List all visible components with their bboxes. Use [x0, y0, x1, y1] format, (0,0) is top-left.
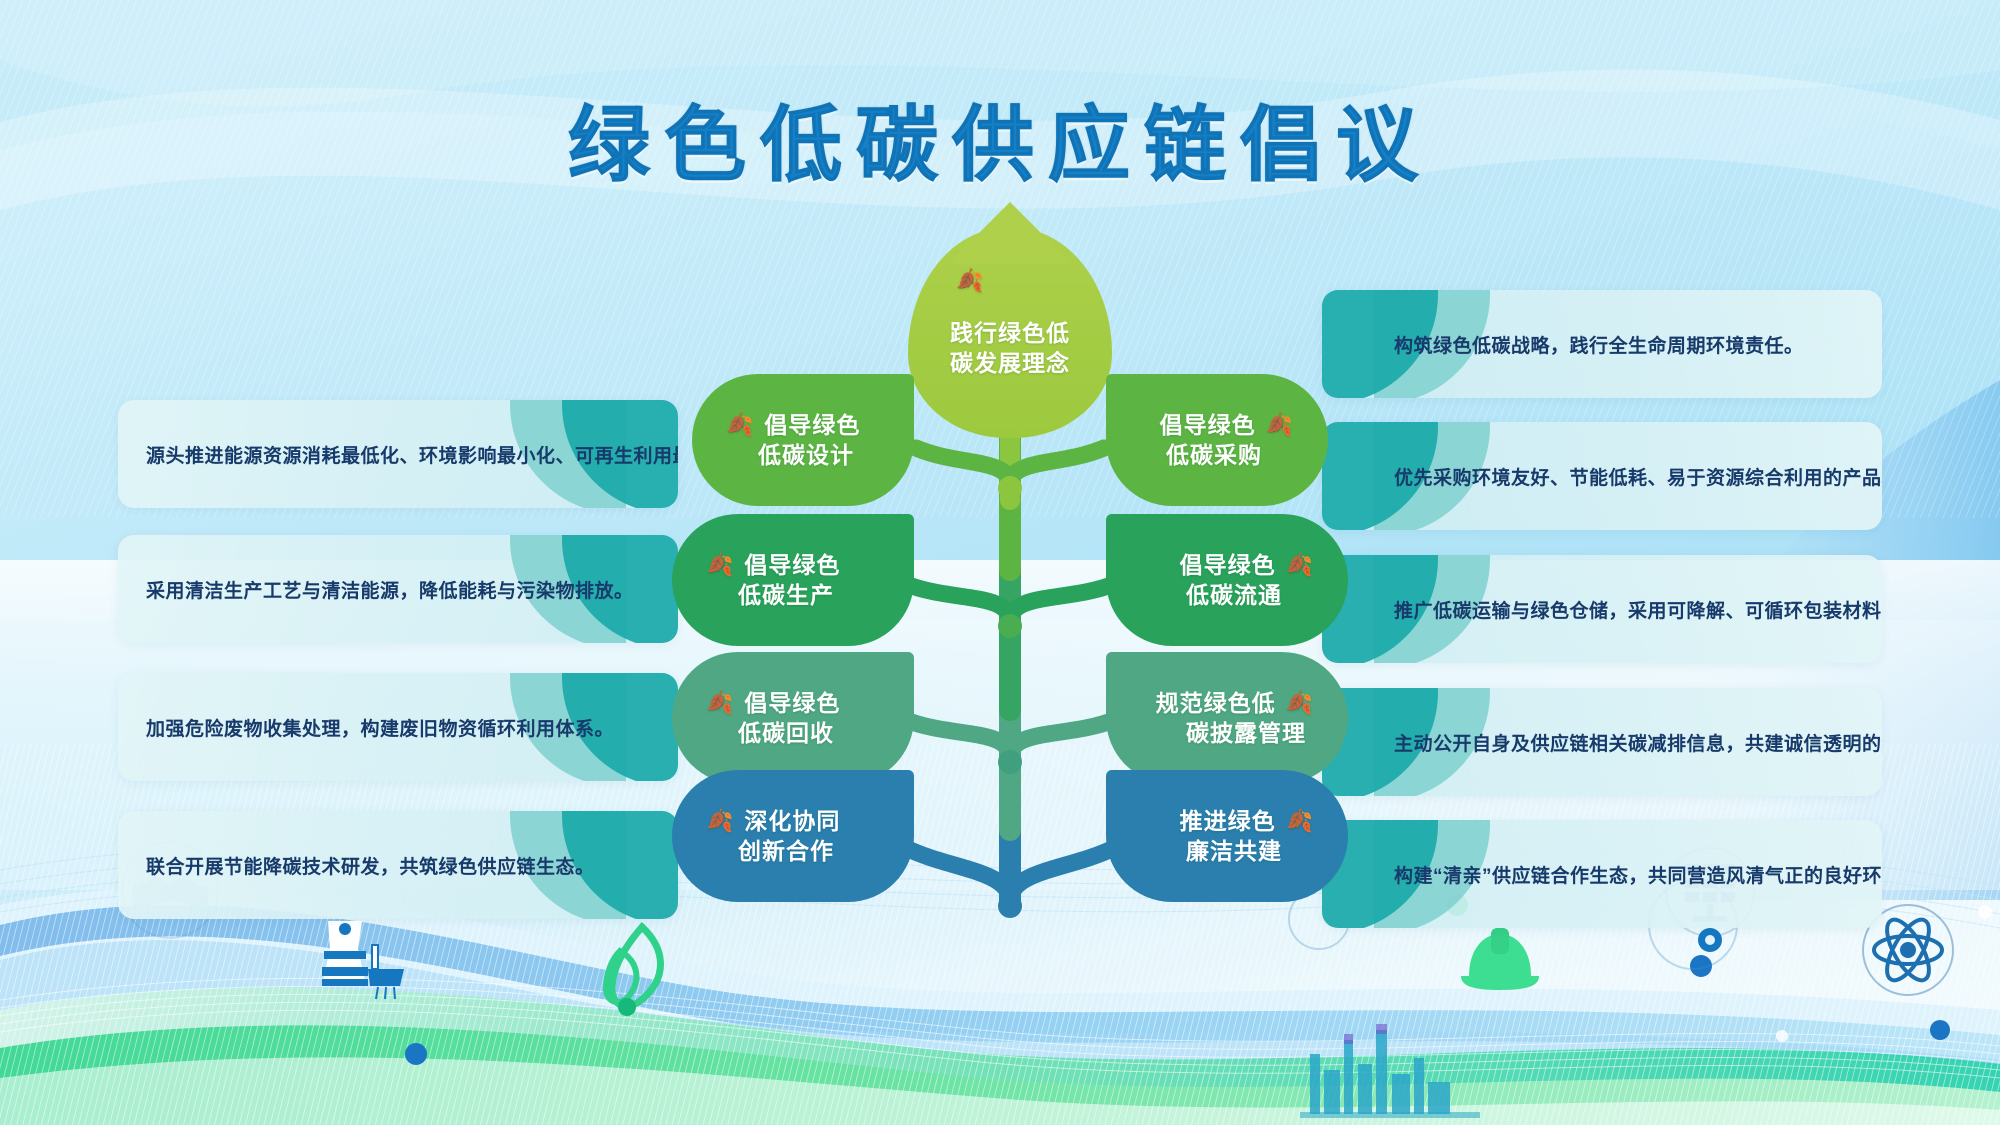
- tree-diagram: 🍂 践行绿色低 碳发展理念 🍂倡导绿色 低碳设计 倡导绿色🍂 低碳采购 🍂倡导绿…: [720, 270, 1300, 920]
- leaf-icon: 🍂: [1286, 554, 1314, 576]
- tree-node-right-4[interactable]: 推进绿色🍂 廉洁共建: [1106, 770, 1348, 902]
- right-panel-3-text: 推广低碳运输与绿色仓储，采用可降解、可循环包装材料。: [1322, 596, 1882, 623]
- tree-node-left-1[interactable]: 🍂倡导绿色 低碳设计: [692, 374, 914, 506]
- left-panel-1: 源头推进能源资源消耗最低化、环境影响最小化、可再生利用最大化。: [118, 400, 678, 508]
- left-panel-4-text: 联合开展节能降碳技术研发，共筑绿色供应链生态。: [118, 852, 595, 879]
- left-panel-2: 采用清洁生产工艺与清洁能源，降低能耗与污染物排放。: [118, 535, 678, 643]
- node-left-4-line1: 深化协同: [744, 806, 840, 836]
- right-panel-1: 构筑绿色低碳战略，践行全生命周期环境责任。: [1322, 290, 1882, 398]
- node-left-3-line2: 低碳回收: [738, 718, 834, 748]
- left-panel-1-text: 源头推进能源资源消耗最低化、环境影响最小化、可再生利用最大化。: [118, 441, 678, 468]
- tree-node-right-1[interactable]: 倡导绿色🍂 低碳采购: [1106, 374, 1328, 506]
- leaf-icon: 🍂: [1286, 692, 1314, 714]
- node-right-3-line2: 碳披露管理: [1186, 718, 1306, 748]
- leaf-icon: 🍂: [706, 810, 734, 832]
- leaf-icon: 🍂: [706, 554, 734, 576]
- tree-node-right-2[interactable]: 倡导绿色🍂 低碳流通: [1106, 514, 1348, 646]
- leaf-icon: 🍂: [726, 414, 754, 436]
- tree-node-left-3[interactable]: 🍂倡导绿色 低碳回收: [672, 652, 914, 784]
- node-right-1-line2: 低碳采购: [1166, 440, 1262, 470]
- crown-line-2: 碳发展理念: [928, 348, 1092, 378]
- crown-tip-shape: [948, 202, 1072, 264]
- crown-line-1: 践行绿色低: [928, 318, 1092, 348]
- poster-title-wrap: 绿色低碳供应链倡议: [0, 78, 2000, 197]
- node-left-2-line1: 倡导绿色: [744, 550, 840, 580]
- node-right-4-line2: 廉洁共建: [1186, 836, 1282, 866]
- left-panel-2-text: 采用清洁生产工艺与清洁能源，降低能耗与污染物排放。: [118, 576, 634, 603]
- leaf-icon: 🍂: [706, 692, 734, 714]
- node-right-2-line1: 倡导绿色: [1180, 550, 1276, 580]
- node-left-3-line1: 倡导绿色: [744, 688, 840, 718]
- right-panel-1-text: 构筑绿色低碳战略，践行全生命周期环境责任。: [1322, 331, 1804, 358]
- right-panel-5-text: 构建“清亲”供应链合作生态，共同营造风清气正的良好环境。: [1322, 861, 1882, 888]
- poster-canvas: 绿色低碳供应链倡议 源头推进能源资源消耗最低化、环境影响最小化、可再生利用最大化…: [0, 0, 2000, 1125]
- tree-node-left-4[interactable]: 🍂深化协同 创新合作: [672, 770, 914, 902]
- leaf-icon: 🍂: [956, 270, 984, 292]
- right-panel-5: 构建“清亲”供应链合作生态，共同营造风清气正的良好环境。: [1322, 820, 1882, 928]
- right-panel-3: 推广低碳运输与绿色仓储，采用可降解、可循环包装材料。: [1322, 555, 1882, 663]
- node-right-2-line2: 低碳流通: [1186, 580, 1282, 610]
- node-left-2-line2: 低碳生产: [738, 580, 834, 610]
- left-panel-3-text: 加强危险废物收集处理，构建废旧物资循环利用体系。: [118, 714, 614, 741]
- node-right-1-line1: 倡导绿色: [1160, 410, 1256, 440]
- right-panel-2: 优先采购环境友好、节能低耗、易于资源综合利用的产品和服务。: [1322, 422, 1882, 530]
- right-panel-4-text: 主动公开自身及供应链相关碳减排信息，共建诚信透明的绿色低碳生态。: [1322, 729, 1882, 756]
- node-right-3-line1: 规范绿色低: [1156, 688, 1276, 718]
- left-panel-3: 加强危险废物收集处理，构建废旧物资循环利用体系。: [118, 673, 678, 781]
- tree-node-left-2[interactable]: 🍂倡导绿色 低碳生产: [672, 514, 914, 646]
- right-panel-2-text: 优先采购环境友好、节能低耗、易于资源综合利用的产品和服务。: [1322, 463, 1882, 490]
- poster-title: 绿色低碳供应链倡议: [568, 78, 1432, 197]
- node-right-4-line1: 推进绿色: [1180, 806, 1276, 836]
- left-panel-4: 联合开展节能降碳技术研发，共筑绿色供应链生态。: [118, 811, 678, 919]
- leaf-icon: 🍂: [1286, 810, 1314, 832]
- leaf-icon: 🍂: [1266, 414, 1294, 436]
- node-left-1-line1: 倡导绿色: [764, 410, 860, 440]
- right-panel-4: 主动公开自身及供应链相关碳减排信息，共建诚信透明的绿色低碳生态。: [1322, 688, 1882, 796]
- node-left-1-line2: 低碳设计: [758, 440, 854, 470]
- tree-node-right-3[interactable]: 规范绿色低🍂 碳披露管理: [1106, 652, 1348, 784]
- node-left-4-line2: 创新合作: [738, 836, 834, 866]
